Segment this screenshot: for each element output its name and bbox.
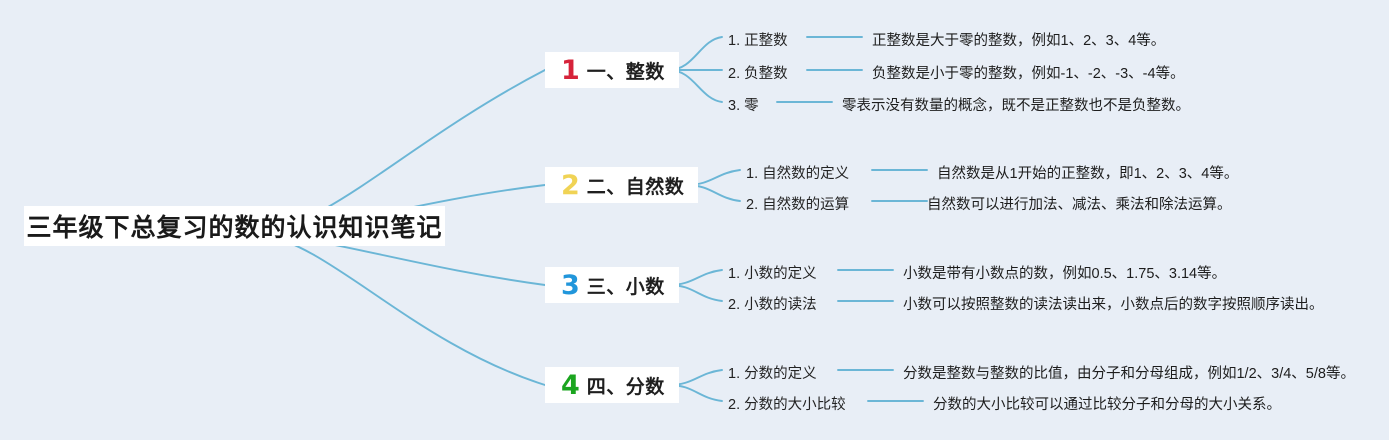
subitem-1-3[interactable]: 3. 零 bbox=[728, 94, 759, 115]
desc-4-1: 分数是整数与整数的比值，由分子和分母组成，例如1/2、3/4、5/8等。 bbox=[903, 362, 1355, 383]
subitem-3-1[interactable]: 1. 小数的定义 bbox=[728, 262, 817, 283]
branch-index-1: 1 bbox=[561, 57, 580, 84]
desc-1-1: 正整数是大于零的整数，例如1、2、3、4等。 bbox=[872, 29, 1165, 50]
branch-index-4: 4 bbox=[561, 372, 580, 399]
desc-3-1: 小数是带有小数点的数，例如0.5、1.75、3.14等。 bbox=[903, 262, 1226, 283]
branch-index-3: 3 bbox=[561, 272, 580, 299]
subitem-1-1[interactable]: 1. 正整数 bbox=[728, 29, 788, 50]
subitem-4-2[interactable]: 2. 分数的大小比较 bbox=[728, 393, 846, 414]
branch-label-4: 四、分数 bbox=[587, 372, 665, 399]
desc-4-2: 分数的大小比较可以通过比较分子和分母的大小关系。 bbox=[933, 393, 1281, 414]
mindmap-canvas: 三年级下总复习的数的认识知识笔记 1 一、整数 1. 正整数 正整数是大于零的整… bbox=[0, 0, 1389, 440]
subitem-3-2[interactable]: 2. 小数的读法 bbox=[728, 293, 817, 314]
subitem-1-2[interactable]: 2. 负整数 bbox=[728, 62, 788, 83]
subitem-2-2[interactable]: 2. 自然数的运算 bbox=[746, 193, 849, 214]
branch-label-1: 一、整数 bbox=[587, 57, 665, 84]
desc-1-3: 零表示没有数量的概念，既不是正整数也不是负整数。 bbox=[842, 94, 1190, 115]
desc-1-2: 负整数是小于零的整数，例如-1、-2、-3、-4等。 bbox=[872, 62, 1185, 83]
root-node[interactable]: 三年级下总复习的数的认识知识笔记 bbox=[24, 206, 445, 246]
branch-node-2[interactable]: 2 二、自然数 bbox=[545, 167, 698, 203]
branch-node-3[interactable]: 3 三、小数 bbox=[545, 267, 679, 303]
subitem-4-1[interactable]: 1. 分数的定义 bbox=[728, 362, 817, 383]
branch-index-2: 2 bbox=[561, 172, 580, 199]
desc-3-2: 小数可以按照整数的读法读出来，小数点后的数字按照顺序读出。 bbox=[903, 293, 1324, 314]
branch-label-2: 二、自然数 bbox=[587, 172, 685, 199]
page-title: 三年级下总复习的数的认识知识笔记 bbox=[26, 208, 442, 244]
branch-label-3: 三、小数 bbox=[587, 272, 665, 299]
branch-node-4[interactable]: 4 四、分数 bbox=[545, 367, 679, 403]
main-branch-curve-4 bbox=[262, 235, 545, 385]
branch-node-1[interactable]: 1 一、整数 bbox=[545, 52, 679, 88]
subitem-2-1[interactable]: 1. 自然数的定义 bbox=[746, 162, 849, 183]
desc-2-2: 自然数可以进行加法、减法、乘法和除法运算。 bbox=[927, 193, 1232, 214]
desc-2-1: 自然数是从1开始的正整数，即1、2、3、4等。 bbox=[937, 162, 1238, 183]
